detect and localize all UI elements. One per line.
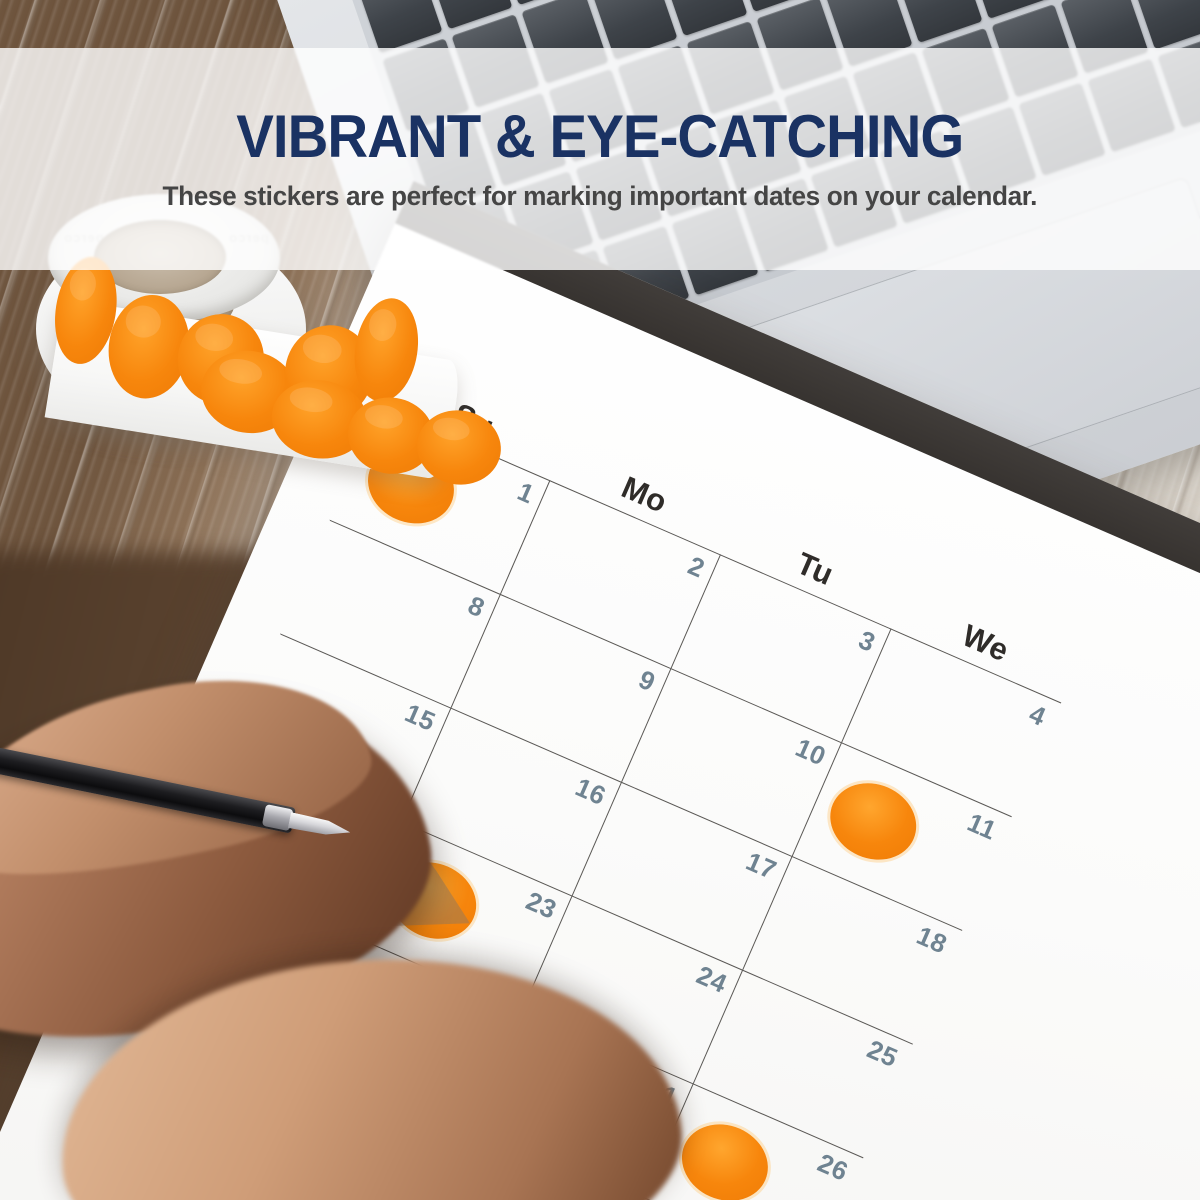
date-number: 25 bbox=[862, 1034, 902, 1074]
date-number: 16 bbox=[571, 772, 611, 812]
date-number: 15 bbox=[400, 697, 440, 737]
date-number: 8 bbox=[463, 590, 489, 624]
date-number: 2 bbox=[683, 550, 709, 584]
date-number: 24 bbox=[692, 960, 732, 1000]
headline: VIBRANT & EYE-CATCHING bbox=[236, 106, 963, 167]
subheadline: These stickers are perfect for marking i… bbox=[163, 181, 1037, 212]
promo-banner: VIBRANT & EYE-CATCHING These stickers ar… bbox=[0, 48, 1200, 270]
date-number: 23 bbox=[521, 885, 561, 925]
date-number: 4 bbox=[1025, 699, 1051, 733]
date-number: 10 bbox=[791, 732, 831, 772]
orange-dot-sticker bbox=[818, 770, 928, 873]
date-number: 18 bbox=[912, 920, 952, 960]
date-number: 11 bbox=[963, 807, 1001, 847]
product-image-canvas: Su Mo Tu We 1 2 3 4 8 9 bbox=[0, 0, 1200, 1200]
date-number: 1 bbox=[513, 476, 539, 510]
date-number: 9 bbox=[634, 664, 660, 698]
date-number: 26 bbox=[813, 1147, 853, 1187]
date-number: 17 bbox=[741, 846, 781, 886]
date-number: 3 bbox=[854, 624, 880, 658]
orange-dot-sticker bbox=[670, 1111, 780, 1200]
